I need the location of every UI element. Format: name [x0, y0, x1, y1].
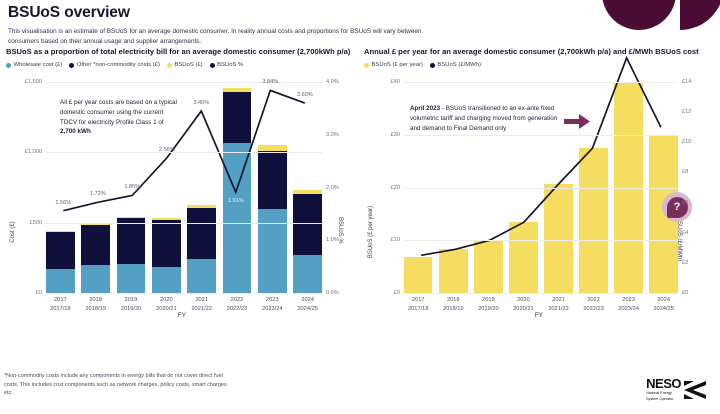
y-axis-tick: £500 — [30, 220, 42, 226]
data-label: 1.85% — [124, 184, 140, 190]
logo-wordmark: NESO — [646, 377, 681, 390]
y2-axis-tick: £12 — [682, 109, 691, 115]
right-chart-title: Annual £ per year for an average domesti… — [364, 47, 714, 57]
y-axis-tick: £0 — [394, 290, 400, 296]
decorative-arcs — [580, 0, 720, 32]
data-label: 1.72% — [90, 191, 106, 197]
page-subtitle: This visualisation is an estimate of BSU… — [8, 27, 428, 46]
x-axis-tick: 20202020/21 — [156, 296, 177, 314]
x-tick-year: 2021 — [191, 296, 212, 305]
bsuos-overview-page: BSUoS overview This visualisation is an … — [0, 0, 720, 414]
data-label: 1.91% — [228, 198, 244, 204]
y2-axis-tick: 1.0% — [326, 237, 339, 243]
x-tick-year: 2017 — [50, 296, 71, 305]
x-tick-year: 2024 — [297, 296, 318, 305]
legend-label: Other *non-commodity costs (£) — [77, 62, 160, 68]
x-axis-tick: 20232023/24 — [618, 296, 639, 314]
y-axis-tick: £0 — [36, 290, 42, 296]
left-chart-legend: Wholesale cost (£)Other *non-commodity c… — [6, 62, 358, 68]
x-tick-year: 2022 — [583, 296, 604, 305]
left-chart-title: BSUoS as a proportion of total electrici… — [6, 47, 358, 57]
legend-label: BSUoS (£/MWh) — [437, 62, 481, 68]
x-axis-tick: 20212021/22 — [191, 296, 212, 314]
y2-axis-tick: 0.0% — [326, 290, 339, 296]
x-tick-year: 2020 — [156, 296, 177, 305]
legend-swatch-icon — [69, 63, 74, 68]
footnote-text: *Non-commodity costs include any compone… — [4, 372, 234, 398]
arc-shape-left — [602, 0, 676, 30]
legend-swatch-icon — [430, 63, 435, 68]
right-chart-plot: BSUoS (£ per year) BSUoS (£/MWh) 2017201… — [364, 74, 714, 329]
left-chart-panel: BSUoS as a proportion of total electrici… — [6, 47, 358, 367]
gridline — [404, 135, 678, 136]
page-header: BSUoS overview This visualisation is an … — [8, 4, 568, 46]
gridline — [46, 152, 322, 153]
y2-axis-tick: 4.0% — [326, 79, 339, 85]
help-button[interactable]: ? — [662, 192, 692, 222]
logo-subline-2: System Operator — [646, 397, 681, 402]
right-chart-plotbox: 20172017/1820182018/1920192019/202020202… — [404, 82, 678, 293]
y2-axis-tick: £6 — [682, 200, 688, 206]
y-axis-tick: £1,000 — [25, 149, 42, 155]
x-axis-tick: 20222022/23 — [227, 296, 248, 314]
annotation-emphasis: 2,700 kWh — [60, 128, 91, 135]
y2-axis-tick: £10 — [682, 139, 691, 145]
x-tick-year: 2018 — [443, 296, 464, 305]
x-axis-tick: 20232023/24 — [262, 296, 283, 314]
x-tick-year: 2021 — [548, 296, 569, 305]
logo-subline-1: National Energy — [646, 391, 681, 396]
left-chart-y-axis-title: Cost (£) — [10, 221, 16, 242]
legend-label: Wholesale cost (£) — [14, 62, 63, 68]
legend-item-bsuos-cost[interactable]: BSUoS (£) — [167, 62, 203, 68]
legend-swatch-icon — [210, 63, 215, 68]
x-axis-tick: 20192019/20 — [478, 296, 499, 314]
legend-swatch-icon — [167, 63, 172, 68]
y2-axis-tick: 3.0% — [326, 132, 339, 138]
y-axis-tick: £20 — [391, 185, 400, 191]
gridline — [404, 82, 678, 83]
right-chart-y-axis-title: BSUoS (£ per year) — [368, 206, 374, 258]
x-axis-tick: 20172017/18 — [50, 296, 71, 314]
y2-axis-tick: £8 — [682, 169, 688, 175]
data-label: 2.56% — [159, 147, 175, 153]
x-axis-tick: 20182018/19 — [443, 296, 464, 314]
x-tick-year: 2017 — [408, 296, 429, 305]
y-axis-tick: £1,500 — [25, 79, 42, 85]
data-label: 3.45% — [193, 100, 209, 106]
legend-swatch-icon — [364, 63, 369, 68]
left-chart-plotbox: 20172017/1820182018/1920192019/202020202… — [46, 82, 322, 293]
april-2023-annotation: April 2023 - BSUoS transitioned to an ex… — [410, 104, 560, 133]
x-axis-tick: 20172017/18 — [408, 296, 429, 314]
legend-item-non-commodity[interactable]: Other *non-commodity costs (£) — [69, 62, 160, 68]
right-chart-x-axis-title: FY — [364, 312, 714, 319]
legend-item-bsuos-per-year[interactable]: BSUoS (£ per year) — [364, 62, 423, 68]
annotation-text: All £ per year costs are based on a typi… — [60, 99, 177, 126]
legend-label: BSUoS % — [217, 62, 243, 68]
x-tick-year: 2023 — [262, 296, 283, 305]
x-tick-year: 2022 — [227, 296, 248, 305]
y2-axis-tick: £2 — [682, 260, 688, 266]
legend-swatch-icon — [6, 63, 11, 68]
y2-axis-tick: £14 — [682, 79, 691, 85]
legend-label: BSUoS (£) — [174, 62, 202, 68]
arc-shape-right — [680, 0, 720, 30]
gridline — [404, 293, 678, 294]
tdcv-annotation: All £ per year costs are based on a typi… — [60, 98, 178, 137]
gridline — [404, 240, 678, 241]
gridline — [46, 82, 322, 83]
y2-axis-tick: 2.0% — [326, 185, 339, 191]
right-chart-panel: Annual £ per year for an average domesti… — [364, 47, 714, 367]
x-axis-tick: 20242024/25 — [297, 296, 318, 314]
x-tick-year: 2019 — [121, 296, 142, 305]
x-axis-tick: 20222022/23 — [583, 296, 604, 314]
union-flag-icon — [684, 381, 706, 399]
x-axis-tick: 20182018/19 — [85, 296, 106, 314]
left-chart-x-axis-title: FY — [6, 312, 358, 319]
annotation-date: April 2023 — [410, 105, 440, 112]
x-axis-tick: 20192019/20 — [121, 296, 142, 314]
legend-item-wholesale[interactable]: Wholesale cost (£) — [6, 62, 62, 68]
y-axis-tick: £30 — [391, 132, 400, 138]
y2-axis-tick: £0 — [682, 290, 688, 296]
x-tick-year: 2019 — [478, 296, 499, 305]
legend-item-bsuos-pct[interactable]: BSUoS % — [210, 62, 244, 68]
left-chart-plot: Cost (£) BSUoS % 20172017/1820182018/192… — [6, 74, 358, 329]
trend-line — [421, 58, 661, 255]
y-axis-tick: £40 — [391, 79, 400, 85]
gridline — [404, 188, 678, 189]
neso-logo: NESO National Energy System Operator — [646, 377, 706, 402]
data-label: 3.84% — [262, 79, 278, 85]
gridline — [46, 293, 322, 294]
page-title: BSUoS overview — [8, 4, 568, 22]
x-axis-tick: 20202020/21 — [513, 296, 534, 314]
x-axis-tick: 20212021/22 — [548, 296, 569, 314]
x-tick-year: 2020 — [513, 296, 534, 305]
y-axis-tick: £10 — [391, 237, 400, 243]
data-label: 3.60% — [297, 92, 313, 98]
x-tick-year: 2024 — [653, 296, 674, 305]
x-axis-tick: 20242024/25 — [653, 296, 674, 314]
annotation-arrow-icon — [564, 114, 590, 129]
legend-item-bsuos-per-mwh[interactable]: BSUoS (£/MWh) — [430, 62, 481, 68]
right-chart-legend: BSUoS (£ per year)BSUoS (£/MWh) — [364, 62, 714, 68]
data-label: 1.56% — [55, 200, 71, 206]
gridline — [46, 223, 322, 224]
legend-label: BSUoS (£ per year) — [372, 62, 423, 68]
x-tick-year: 2023 — [618, 296, 639, 305]
x-tick-year: 2018 — [85, 296, 106, 305]
y2-axis-tick: £4 — [682, 230, 688, 236]
